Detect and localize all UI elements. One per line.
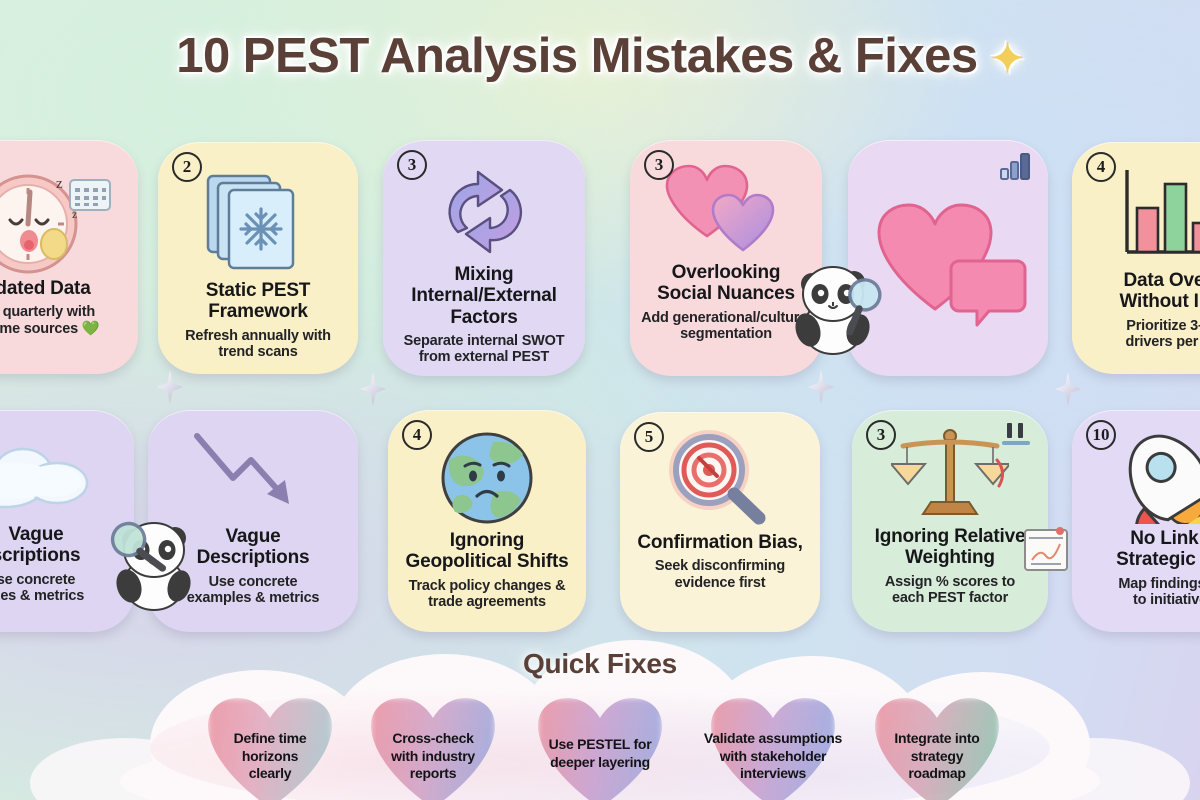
quick-fix-text: Integrate into strategy roadmap (852, 730, 1022, 783)
card-subtitle-line-1: Track policy changes & (409, 578, 566, 595)
card-subtitle-line-2: trend scans (218, 344, 297, 361)
card-subtitle-line-2: from external PEST (419, 349, 549, 366)
card-subtitle-line-1: Refresh annually with (185, 328, 331, 345)
quick-fix-line-1: Use PESTEL for (515, 736, 685, 754)
sparkles-icon: ✦ (991, 37, 1024, 81)
page-title-text: 10 PEST Analysis Mistakes & Fixes (176, 29, 977, 83)
quick-fix-line-3: reports (348, 765, 518, 783)
quick-fix-line-1: Cross-check (348, 730, 518, 748)
card-subtitle-line-2: -time sources 💚 (0, 321, 100, 338)
card-static-pest-framework[interactable]: 2 Static PEST Framework Refresh annually… (158, 142, 358, 374)
card-number-badge: 3 (866, 420, 896, 450)
quick-fix-line-3: roadmap (852, 765, 1022, 783)
card-ignoring-geopolitical-shifts[interactable]: 4 Ignoring Geopolitical Shifts Track pol… (388, 410, 586, 632)
card-title: Vague Descriptions (197, 526, 310, 569)
quick-fix-line-3: clearly (185, 765, 355, 783)
card-subtitle-line-2: evidence first (675, 575, 766, 592)
quick-fix-line-2: deeper layering (515, 754, 685, 772)
quick-fix-line-1: Integrate into (852, 730, 1022, 748)
card-subtitle-line-1: Seek disconfirming (655, 558, 785, 575)
card-subtitle-line-1: Separate internal SWOT (404, 333, 565, 350)
card-title: Mixing Internal/External Factors (411, 264, 556, 328)
quick-fix-line-2: with industry (348, 748, 518, 766)
card-number-badge: 2 (172, 152, 202, 182)
card-title: Confirmation Bias, (637, 532, 802, 553)
card-row-2: Vague scriptions se concrete ples & metr… (0, 408, 1200, 636)
card-title: Overlooking Social Nuances (657, 262, 795, 305)
svg-text:z: z (56, 176, 63, 192)
card-number-badge: 4 (402, 420, 432, 450)
card-confirmation-bias[interactable]: 5 Confirmation Bias, Seek disconfirming … (620, 412, 820, 632)
card-title: No Link t Strategic Ac (1116, 528, 1200, 571)
card-subtitle-line-1: se concrete (0, 572, 75, 589)
panda-with-magnifier-row2 (98, 500, 210, 617)
card-title: Ignoring Relative Weighting (875, 526, 1026, 569)
card-title: Data Overl Without Ins (1119, 270, 1200, 313)
panda-with-magnifier-row1 (786, 246, 896, 361)
card-number-badge: 4 (1086, 152, 1116, 182)
card-subtitle-line-2: drivers per fa (1125, 334, 1200, 351)
quick-fix-line-2: horizons (185, 748, 355, 766)
card-data-overload-without-insight[interactable]: 4 Data Overl Without Ins Prioritize 3–5 … (1072, 142, 1200, 374)
page-title: 10 PEST Analysis Mistakes & Fixes ✦ (176, 28, 1024, 84)
card-number-badge: 3 (397, 150, 427, 180)
sticky-note-chart-icon (1022, 526, 1070, 579)
card-subtitle-line-1: Use concrete (209, 574, 298, 591)
card-subtitle-line-2: segmentation (680, 326, 772, 343)
card-subtitle-line-2: trade agreements (428, 594, 546, 611)
quick-fix-line-1: Validate assumptions (678, 730, 868, 748)
card-subtitle-line-1: Map findings di (1118, 576, 1200, 593)
page-header: 10 PEST Analysis Mistakes & Fixes ✦ (0, 28, 1200, 84)
frozen-documents-icon (166, 168, 350, 276)
card-row-1: z z dated Data e quarterly with -time so… (0, 136, 1200, 380)
card-subtitle-line-1: e quarterly with (0, 304, 95, 321)
card-title: dated Data (0, 278, 91, 299)
card-title: Vague scriptions (0, 524, 80, 567)
card-number-badge: 3 (644, 150, 674, 180)
quick-fix-line-2: strategy (852, 748, 1022, 766)
card-subtitle-line-2: each PEST factor (892, 590, 1008, 607)
quick-fixes-heading: Quick Fixes (0, 648, 1200, 680)
sleeping-clock-icon: z z (0, 166, 130, 274)
card-mixing-internal-external-factors[interactable]: 3 Mixing Internal/External Factors Separ… (383, 140, 585, 376)
quick-fix-line-1: Define time (185, 730, 355, 748)
quick-fix-text: Cross-check with industry reports (348, 730, 518, 783)
signal-bars-icon (1000, 152, 1034, 185)
card-subtitle-line-1: Assign % scores to (885, 574, 1015, 591)
card-number-badge: 10 (1086, 420, 1116, 450)
quick-fix-line-3: interviews (678, 765, 868, 783)
card-no-link-to-strategic-action[interactable]: 10 No Link t Strategic Ac Map findings d… (1072, 410, 1200, 632)
pause-bars-icon (1000, 422, 1034, 453)
card-title: Ignoring Geopolitical Shifts (406, 530, 569, 573)
card-subtitle-line-1: Prioritize 3–5 (1126, 318, 1200, 335)
quick-fix-text: Define time horizons clearly (185, 730, 355, 783)
quick-fix-line-2: with stakeholder (678, 748, 868, 766)
recycle-arrows-icon (391, 164, 577, 260)
card-ignoring-relative-weighting[interactable]: 3 Ignoring Relative Weighting Assign (852, 410, 1048, 632)
card-subtitle-line-2: ples & metrics (0, 588, 84, 605)
card-number-badge: 5 (634, 422, 664, 452)
card-subtitle-line-2: to initiative (1133, 592, 1200, 609)
card-outdated-data[interactable]: z z dated Data e quarterly with -time so… (0, 140, 138, 374)
quick-fix-text: Use PESTEL for deeper layering (515, 736, 685, 771)
quick-fix-text: Validate assumptions with stakeholder in… (678, 730, 868, 783)
card-title: Static PEST Framework (206, 280, 310, 323)
